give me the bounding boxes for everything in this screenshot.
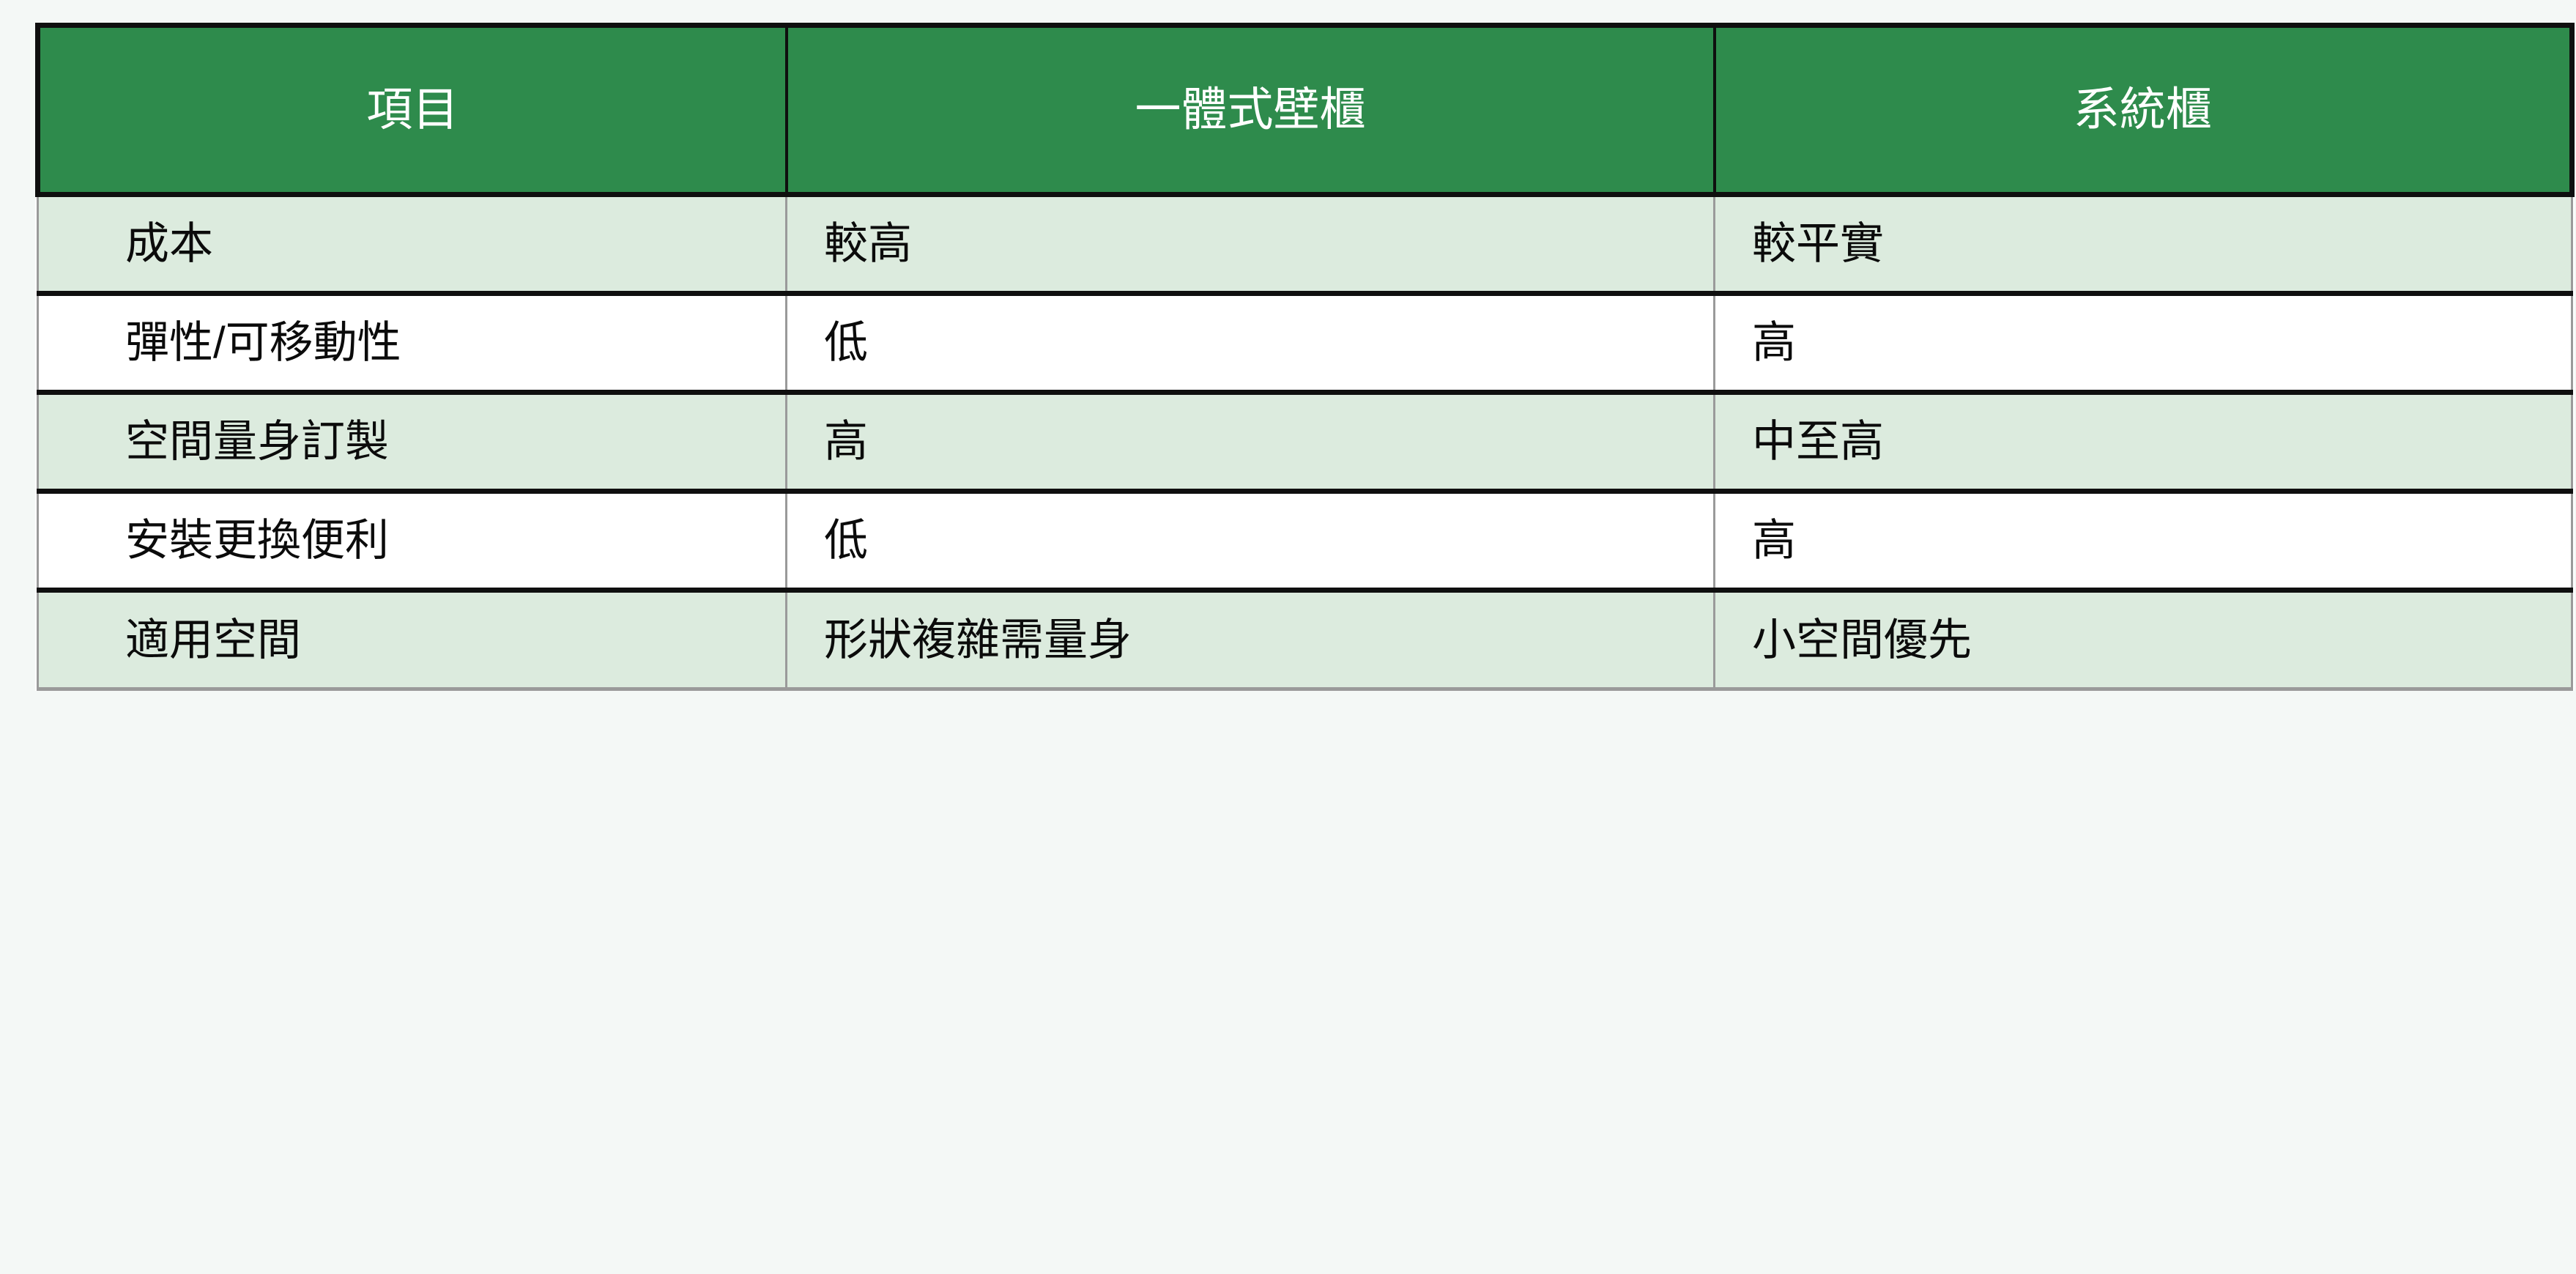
cell-builtin: 低	[787, 492, 1715, 590]
cell-system: 高	[1715, 492, 2572, 590]
table-row: 彈性/可移動性 低 高	[38, 294, 2572, 393]
cell-item: 安裝更換便利	[38, 492, 787, 590]
table-row: 空間量身訂製 高 中至高	[38, 393, 2572, 492]
column-header-system-cabinet: 系統櫃	[1715, 26, 2572, 195]
cell-system: 小空間優先	[1715, 590, 2572, 689]
column-header-builtin-wardrobe: 一體式壁櫃	[787, 26, 1715, 195]
column-header-item: 項目	[38, 26, 787, 195]
comparison-table: 項目 一體式壁櫃 系統櫃 成本 較高 較平實 彈性/可移動性 低 高 空間量身訂…	[35, 23, 2575, 691]
table-row: 成本 較高 較平實	[38, 195, 2572, 294]
cell-system: 高	[1715, 294, 2572, 393]
cell-builtin: 較高	[787, 195, 1715, 294]
table-body: 成本 較高 較平實 彈性/可移動性 低 高 空間量身訂製 高 中至高 安裝更換便…	[38, 195, 2572, 689]
table-header: 項目 一體式壁櫃 系統櫃	[38, 26, 2572, 195]
page-root: 項目 一體式壁櫃 系統櫃 成本 較高 較平實 彈性/可移動性 低 高 空間量身訂…	[0, 0, 2576, 1274]
cell-system: 較平實	[1715, 195, 2572, 294]
table-row: 適用空間 形狀複雜需量身 小空間優先	[38, 590, 2572, 689]
cell-item: 空間量身訂製	[38, 393, 787, 492]
cell-item: 彈性/可移動性	[38, 294, 787, 393]
cell-builtin: 低	[787, 294, 1715, 393]
cell-item: 成本	[38, 195, 787, 294]
cell-item: 適用空間	[38, 590, 787, 689]
cell-builtin: 高	[787, 393, 1715, 492]
cell-builtin: 形狀複雜需量身	[787, 590, 1715, 689]
cell-system: 中至高	[1715, 393, 2572, 492]
table-row: 安裝更換便利 低 高	[38, 492, 2572, 590]
header-row: 項目 一體式壁櫃 系統櫃	[38, 26, 2572, 195]
